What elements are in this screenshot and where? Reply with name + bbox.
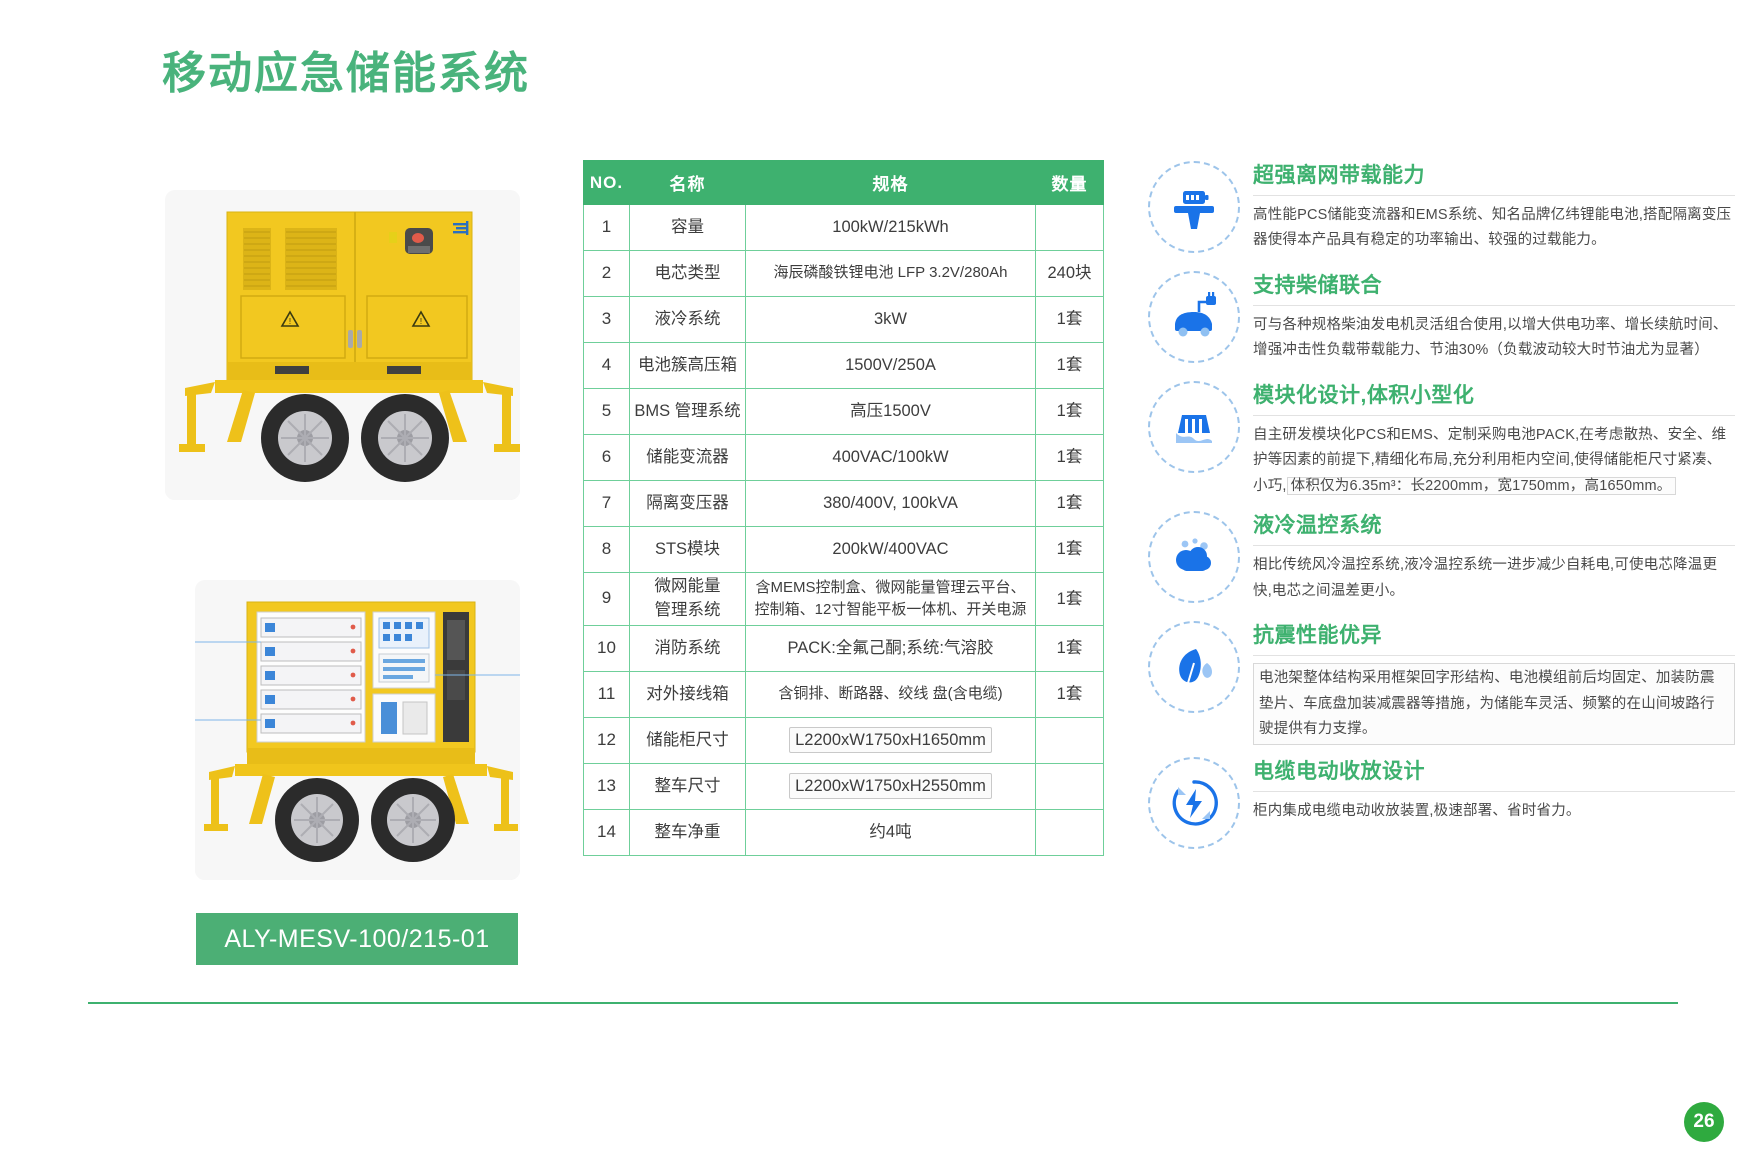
footer-divider [88, 1002, 1678, 1004]
cloud-cooling-icon [1148, 511, 1240, 603]
table-row: 2 电芯类型 海辰磷酸铁锂电池 LFP 3.2V/280Ah 240块 [584, 251, 1104, 297]
cell-name: 容量 [630, 205, 746, 251]
cell-spec: 380/400V, 100kVA [746, 481, 1036, 527]
feature-body: 抗震性能优异 电池架整体结构采用框架回字形结构、电池模组前后均固定、加装防震垫片… [1253, 615, 1735, 745]
trailer-interior-illustration [195, 580, 520, 880]
feature-icon-wrap [1135, 265, 1253, 369]
cell-no: 7 [584, 481, 630, 527]
spec-table: NO. 名称 规格 数量 1 容量 100kW/215kWh 2 电芯类型 海辰… [583, 160, 1104, 856]
feature-item: 液冷温控系统 相比传统风冷温控系统,液冷温控系统一进步减少自耗电,可使电芯降温更… [1135, 505, 1735, 609]
table-row: 6 储能变流器 400VAC/100kW 1套 [584, 435, 1104, 481]
feature-title: 超强离网带载能力 [1253, 159, 1735, 189]
col-header-spec: 规格 [746, 161, 1036, 205]
feature-item: 电缆电动收放设计 柜内集成电缆电动收放装置,极速部署、省时省力。 [1135, 751, 1735, 855]
table-row: 5 BMS 管理系统 高压1500V 1套 [584, 389, 1104, 435]
feature-divider [1253, 545, 1735, 546]
feature-icon-wrap [1135, 615, 1253, 719]
col-header-name: 名称 [630, 161, 746, 205]
cell-spec-boxed: L2200xW1750xH1650mm [789, 727, 992, 753]
table-row: 13 整车尺寸 L2200xW1750xH2550mm [584, 763, 1104, 809]
feature-list: 超强离网带载能力 高性能PCS储能变流器和EMS系统、知名品牌亿纬锂能电池,搭配… [1135, 155, 1735, 861]
cell-spec: 3kW [746, 297, 1036, 343]
cell-no: 1 [584, 205, 630, 251]
cell-name: 整车净重 [630, 809, 746, 855]
cell-qty: 1套 [1036, 435, 1104, 481]
leaf-shock-icon [1148, 621, 1240, 713]
feature-description: 电池架整体结构采用框架回字形结构、电池模组前后均固定、加装防震垫片、车底盘加装减… [1253, 663, 1735, 745]
feature-icon-wrap [1135, 751, 1253, 855]
table-row: 11 对外接线箱 含铜排、断路器、绞线 盘(含电缆) 1套 [584, 671, 1104, 717]
cell-name: 储能变流器 [630, 435, 746, 481]
feature-description: 可与各种规格柴油发电机灵活组合使用,以增大供电功率、增长续航时间、增强冲击性负载… [1253, 313, 1735, 364]
feature-description: 自主研发模块化PCS和EMS、定制采购电池PACK,在考虑散热、安全、维护等因素… [1253, 423, 1735, 499]
cell-name: 电池簇高压箱 [630, 343, 746, 389]
feature-icon-wrap [1135, 155, 1253, 259]
table-row: 4 电池簇高压箱 1500V/250A 1套 [584, 343, 1104, 389]
feature-item: 超强离网带载能力 高性能PCS储能变流器和EMS系统、知名品牌亿纬锂能电池,搭配… [1135, 155, 1735, 259]
cell-no: 13 [584, 763, 630, 809]
cell-no: 14 [584, 809, 630, 855]
cell-qty [1036, 205, 1104, 251]
battery-power-icon [1148, 161, 1240, 253]
cell-spec-line2: 控制箱、12寸智能平板一体机、开关电源 [749, 599, 1032, 621]
feature-title: 模块化设计,体积小型化 [1253, 379, 1735, 409]
cell-spec: PACK:全氟己酮;系统:气溶胶 [746, 625, 1036, 671]
cell-name: 储能柜尺寸 [630, 717, 746, 763]
cell-no: 4 [584, 343, 630, 389]
table-row: 12 储能柜尺寸 L2200xW1750xH1650mm [584, 717, 1104, 763]
cell-name-line1: 微网能量 [633, 575, 742, 599]
cell-name: STS模块 [630, 527, 746, 573]
feature-body: 液冷温控系统 相比传统风冷温控系统,液冷温控系统一进步减少自耗电,可使电芯降温更… [1253, 505, 1735, 604]
cell-qty: 1套 [1036, 527, 1104, 573]
feature-item: 模块化设计,体积小型化 自主研发模块化PCS和EMS、定制采购电池PACK,在考… [1135, 375, 1735, 499]
slide-page: 移动应急储能系统 [0, 0, 1764, 1172]
feature-body: 支持柴储联合 可与各种规格柴油发电机灵活组合使用,以增大供电功率、增长续航时间、… [1253, 265, 1735, 364]
page-number-badge: 26 [1684, 1102, 1724, 1142]
trailer-interior-photo [195, 580, 520, 880]
cell-spec-boxed: L2200xW1750xH2550mm [789, 773, 992, 799]
feature-title: 抗震性能优异 [1253, 619, 1735, 649]
feature-divider [1253, 415, 1735, 416]
cell-name: 电芯类型 [630, 251, 746, 297]
feature-title: 液冷温控系统 [1253, 509, 1735, 539]
cell-name: 隔离变压器 [630, 481, 746, 527]
cell-spec: 400VAC/100kW [746, 435, 1036, 481]
feature-divider [1253, 305, 1735, 306]
feature-description: 高性能PCS储能变流器和EMS系统、知名品牌亿纬锂能电池,搭配隔离变压器使得本产… [1253, 203, 1735, 254]
cell-name: 液冷系统 [630, 297, 746, 343]
svg-text:!: ! [289, 317, 291, 326]
feature-item: 抗震性能优异 电池架整体结构采用框架回字形结构、电池模组前后均固定、加装防震垫片… [1135, 615, 1735, 745]
cell-qty: 240块 [1036, 251, 1104, 297]
cell-spec: 高压1500V [746, 389, 1036, 435]
table-row: 14 整车净重 约4吨 [584, 809, 1104, 855]
table-row: 7 隔离变压器 380/400V, 100kVA 1套 [584, 481, 1104, 527]
feature-item: 支持柴储联合 可与各种规格柴油发电机灵活组合使用,以增大供电功率、增长续航时间、… [1135, 265, 1735, 369]
table-row: 10 消防系统 PACK:全氟己酮;系统:气溶胶 1套 [584, 625, 1104, 671]
cell-spec: 海辰磷酸铁锂电池 LFP 3.2V/280Ah [746, 251, 1036, 297]
cable-reel-lightning-icon [1148, 757, 1240, 849]
col-header-qty: 数量 [1036, 161, 1104, 205]
cell-no: 12 [584, 717, 630, 763]
feature-description-boxed: 体积仅为6.35m³：长2200mm，宽1750mm，高1650mm。 [1287, 477, 1676, 495]
cell-spec: 含MEMS控制盒、微网能量管理云平台、 控制箱、12寸智能平板一体机、开关电源 [746, 573, 1036, 626]
feature-body: 超强离网带载能力 高性能PCS储能变流器和EMS系统、知名品牌亿纬锂能电池,搭配… [1253, 155, 1735, 254]
cell-spec: 含铜排、断路器、绞线 盘(含电缆) [746, 671, 1036, 717]
feature-description: 柜内集成电缆电动收放装置,极速部署、省时省力。 [1253, 799, 1735, 824]
page-title: 移动应急储能系统 [162, 50, 530, 98]
model-badge: ALY-MESV-100/215-01 [196, 913, 518, 965]
cell-name: BMS 管理系统 [630, 389, 746, 435]
feature-body: 电缆电动收放设计 柜内集成电缆电动收放装置,极速部署、省时省力。 [1253, 751, 1735, 824]
spec-table-container: NO. 名称 规格 数量 1 容量 100kW/215kWh 2 电芯类型 海辰… [583, 160, 1103, 856]
cell-name: 对外接线箱 [630, 671, 746, 717]
cell-spec: 约4吨 [746, 809, 1036, 855]
table-row: 3 液冷系统 3kW 1套 [584, 297, 1104, 343]
feature-divider [1253, 195, 1735, 196]
cell-no: 2 [584, 251, 630, 297]
cell-no: 11 [584, 671, 630, 717]
table-row: 8 STS模块 200kW/400VAC 1套 [584, 527, 1104, 573]
cell-spec-line1: 含MEMS控制盒、微网能量管理云平台、 [749, 577, 1032, 599]
cell-spec: 200kW/400VAC [746, 527, 1036, 573]
cell-qty [1036, 809, 1104, 855]
cell-name: 整车尺寸 [630, 763, 746, 809]
svg-text:!: ! [420, 317, 422, 326]
cell-no: 8 [584, 527, 630, 573]
cell-no: 5 [584, 389, 630, 435]
cell-spec: L2200xW1750xH1650mm [746, 717, 1036, 763]
cell-no: 6 [584, 435, 630, 481]
cell-spec: 100kW/215kWh [746, 205, 1036, 251]
cell-qty: 1套 [1036, 671, 1104, 717]
cell-name: 消防系统 [630, 625, 746, 671]
cell-spec: 1500V/250A [746, 343, 1036, 389]
table-header-row: NO. 名称 规格 数量 [584, 161, 1104, 205]
modular-rack-icon [1148, 381, 1240, 473]
cell-qty: 1套 [1036, 481, 1104, 527]
car-charging-icon [1148, 271, 1240, 363]
trailer-exterior-photo: ! ! [165, 190, 520, 500]
cell-qty: 1套 [1036, 625, 1104, 671]
cell-no: 10 [584, 625, 630, 671]
feature-icon-wrap [1135, 505, 1253, 609]
cell-no: 9 [584, 573, 630, 626]
feature-divider [1253, 791, 1735, 792]
table-row: 1 容量 100kW/215kWh [584, 205, 1104, 251]
feature-divider [1253, 655, 1735, 656]
cell-qty: 1套 [1036, 343, 1104, 389]
feature-icon-wrap [1135, 375, 1253, 479]
feature-title: 支持柴储联合 [1253, 269, 1735, 299]
feature-body: 模块化设计,体积小型化 自主研发模块化PCS和EMS、定制采购电池PACK,在考… [1253, 375, 1735, 499]
cell-qty: 1套 [1036, 297, 1104, 343]
feature-description: 相比传统风冷温控系统,液冷温控系统一进步减少自耗电,可使电芯降温更快,电芯之间温… [1253, 553, 1735, 604]
table-row: 9 微网能量 管理系统 含MEMS控制盒、微网能量管理云平台、 控制箱、12寸智… [584, 573, 1104, 626]
cell-qty: 1套 [1036, 573, 1104, 626]
cell-qty [1036, 763, 1104, 809]
cell-name-line2: 管理系统 [633, 599, 742, 623]
trailer-exterior-illustration: ! ! [165, 190, 520, 500]
cell-qty [1036, 717, 1104, 763]
feature-title: 电缆电动收放设计 [1253, 755, 1735, 785]
cell-spec: L2200xW1750xH2550mm [746, 763, 1036, 809]
cell-qty: 1套 [1036, 389, 1104, 435]
cell-name: 微网能量 管理系统 [630, 573, 746, 626]
cell-no: 3 [584, 297, 630, 343]
col-header-no: NO. [584, 161, 630, 205]
